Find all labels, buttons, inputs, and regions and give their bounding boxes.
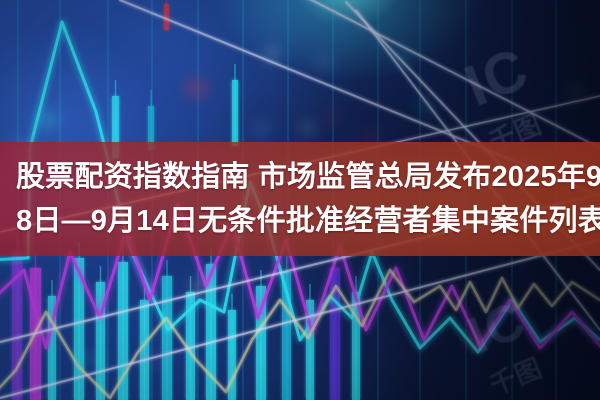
stock-banner-image: IC 千图 IC 千图 股票配资指数指南 市场监管总局发布2025年9月 8日—… [0, 0, 600, 400]
headline-line-2: 8日—9月14日无条件批准经营者集中案件列表 [16, 199, 596, 243]
headline-block: 股票配资指数指南 市场监管总局发布2025年9月 8日—9月14日无条件批准经营… [0, 142, 600, 256]
headline-line-1: 股票配资指数指南 市场监管总局发布2025年9月 [16, 155, 596, 199]
